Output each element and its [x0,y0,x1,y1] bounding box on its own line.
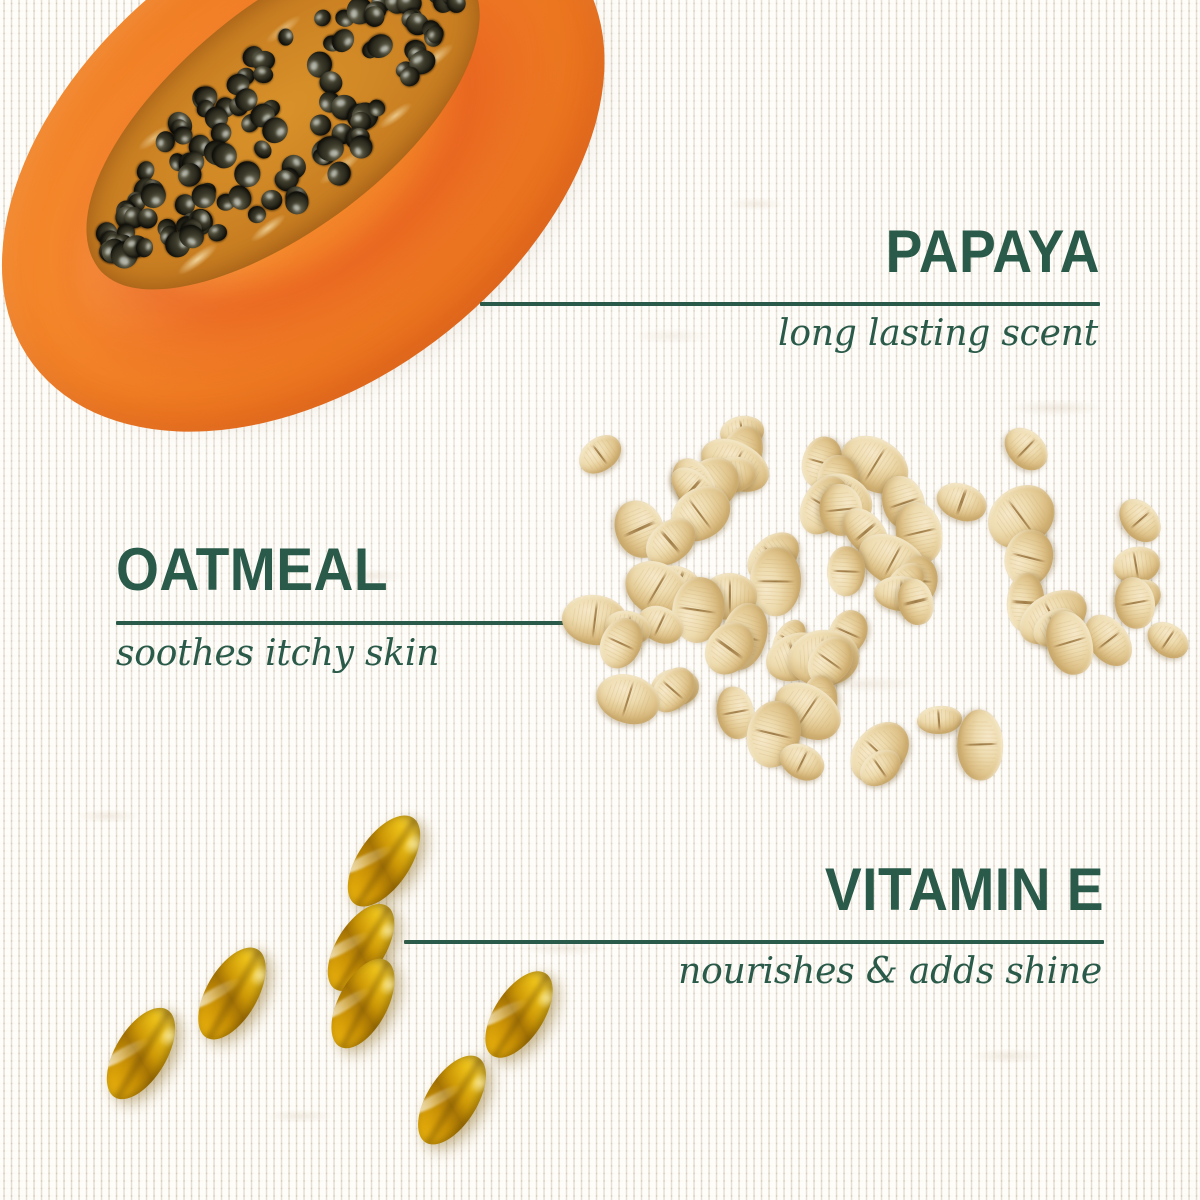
ingredient-name-papaya: PAPAYA [530,222,1100,282]
ingredient-block-papaya: PAPAYA long lasting scent [480,222,1100,354]
ingredient-description-oatmeal: soothes itchy skin [116,634,644,674]
divider-rule-papaya [480,302,1100,306]
divider-rule-vitamin-e [404,940,1104,944]
infographic-canvas: PAPAYA long lasting scent OATMEAL soothe… [0,0,1200,1200]
ingredient-name-vitamin-e: VITAMIN E [460,860,1104,920]
ingredient-description-papaya: long lasting scent [480,314,1100,354]
ingredient-name-oatmeal: OATMEAL [116,540,602,600]
ingredient-block-vitamin-e: VITAMIN E nourishes & adds shine [404,860,1104,992]
